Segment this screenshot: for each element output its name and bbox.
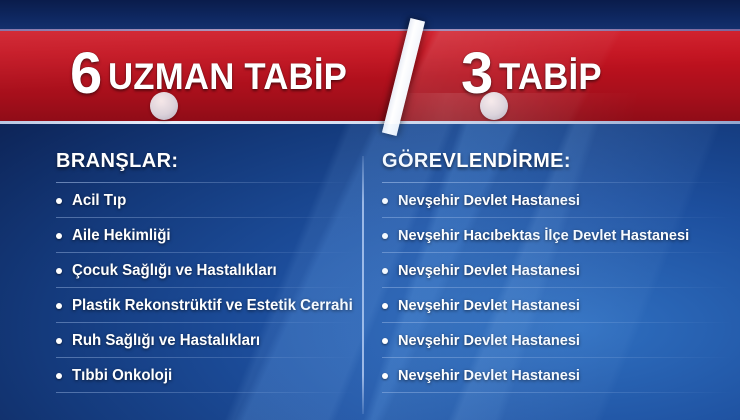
column-branches-heading: BRANŞLAR: bbox=[56, 150, 356, 173]
list-item: Aile Hekimliği bbox=[56, 218, 356, 253]
list-item: Nevşehir Devlet Hastanesi bbox=[382, 253, 732, 288]
list-item-label: Acil Tıp bbox=[72, 192, 126, 210]
bullet-icon bbox=[56, 338, 62, 344]
headline-right-label: TABİP bbox=[499, 58, 602, 95]
list-item-label: Plastik Rekonstrüktif ve Estetik Cerrahi bbox=[72, 297, 353, 315]
bullet-icon bbox=[382, 268, 388, 274]
column-assignments: GÖREVLENDİRME: Nevşehir Devlet Hastanesi… bbox=[382, 150, 732, 393]
list-item: Nevşehir Devlet Hastanesi bbox=[382, 358, 732, 393]
list-item: Nevşehir Devlet Hastanesi bbox=[382, 288, 732, 323]
list-item: Ruh Sağlığı ve Hastalıkları bbox=[56, 323, 356, 358]
list-item-rule bbox=[382, 392, 732, 393]
column-divider bbox=[362, 156, 364, 414]
headline-left: 6 UZMAN TABİP bbox=[70, 29, 363, 123]
bullet-icon bbox=[56, 373, 62, 379]
list-item-rule bbox=[56, 392, 356, 393]
bullet-icon bbox=[56, 303, 62, 309]
list-item: Plastik Rekonstrüktif ve Estetik Cerrahi bbox=[56, 288, 356, 323]
bullet-icon bbox=[382, 338, 388, 344]
list-item-label: Ruh Sağlığı ve Hastalıkları bbox=[72, 332, 260, 350]
list-item-label: Nevşehir Devlet Hastanesi bbox=[398, 332, 580, 349]
list-item: Çocuk Sağlığı ve Hastalıkları bbox=[56, 253, 356, 288]
infographic-stage: 6 UZMAN TABİP 3 TABİP BRANŞLAR: Acil Tıp… bbox=[0, 0, 740, 420]
bullet-icon bbox=[382, 373, 388, 379]
bullet-icon bbox=[56, 268, 62, 274]
headline-left-label: UZMAN TABİP bbox=[108, 58, 347, 95]
assignments-list: Nevşehir Devlet Hastanesi Nevşehir Hacıb… bbox=[382, 183, 732, 393]
list-item-label: Nevşehir Devlet Hastanesi bbox=[398, 262, 580, 279]
list-item: Acil Tıp bbox=[56, 183, 356, 218]
list-item: Nevşehir Devlet Hastanesi bbox=[382, 183, 732, 218]
list-item-label: Nevşehir Devlet Hastanesi bbox=[398, 192, 580, 209]
column-assignments-heading: GÖREVLENDİRME: bbox=[382, 150, 732, 173]
bullet-icon bbox=[56, 233, 62, 239]
list-item-label: Aile Hekimliği bbox=[72, 227, 171, 245]
list-item-label: Nevşehir Hacıbektas İlçe Devlet Hastanes… bbox=[398, 227, 689, 244]
bullet-icon bbox=[56, 198, 62, 204]
list-item-label: Tıbbi Onkoloji bbox=[72, 367, 172, 385]
list-item-label: Nevşehir Devlet Hastanesi bbox=[398, 297, 580, 314]
column-branches: BRANŞLAR: Acil Tıp Aile Hekimliği Çocuk … bbox=[56, 150, 356, 393]
headline-left-count: 6 bbox=[70, 45, 101, 103]
list-item: Nevşehir Devlet Hastanesi bbox=[382, 323, 732, 358]
headline-right: 3 TABİP bbox=[461, 29, 609, 123]
top-strip bbox=[0, 0, 740, 31]
headline-right-count: 3 bbox=[461, 45, 492, 103]
list-item: Nevşehir Hacıbektas İlçe Devlet Hastanes… bbox=[382, 218, 732, 253]
list-item-label: Nevşehir Devlet Hastanesi bbox=[398, 367, 580, 384]
list-item: Tıbbi Onkoloji bbox=[56, 358, 356, 393]
bullet-icon bbox=[382, 198, 388, 204]
bullet-icon bbox=[382, 233, 388, 239]
branches-list: Acil Tıp Aile Hekimliği Çocuk Sağlığı ve… bbox=[56, 183, 356, 393]
list-item-label: Çocuk Sağlığı ve Hastalıkları bbox=[72, 262, 277, 280]
bullet-icon bbox=[382, 303, 388, 309]
